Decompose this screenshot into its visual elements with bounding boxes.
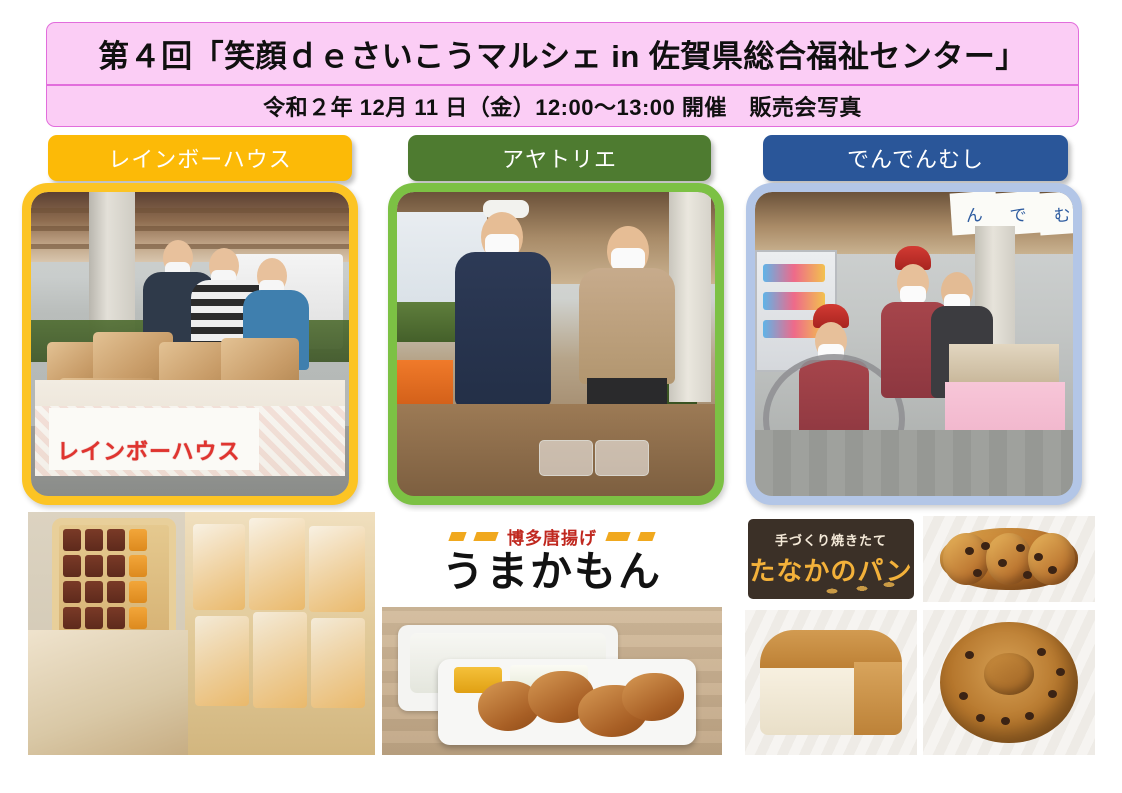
vendor-tab-label: レインボーハウス (108, 142, 292, 174)
vendor-tab-label: でんでんむし (847, 142, 984, 174)
photo-frame-dendenmushi: ん で む (746, 183, 1082, 505)
photo-ayatorie-stall (397, 192, 715, 496)
sign-tanaka-no-pan: 手づくり焼きたて たなかのパン (745, 516, 917, 602)
decorative-dash-icon (473, 532, 498, 541)
poster-canvas: 第４回「笑顔ｄｅさいこうマルシェ in 佐賀県総合福祉センター」 令和２年 12… (0, 0, 1122, 793)
photo-dendenmushi-stall: ん で む (755, 192, 1073, 496)
stall-banner-text: レインボーハウス (57, 434, 257, 466)
flag-char: む (1038, 192, 1073, 236)
page-title: 第４回「笑顔ｄｅさいこうマルシェ in 佐賀県総合福祉センター」 (47, 23, 1078, 84)
photo-frame-rainbow-house: レインボーハウス (22, 183, 358, 505)
photo-raisin-swirl-bread (923, 610, 1095, 755)
sign-subtitle: 博多唐揚げ (507, 524, 597, 549)
photo-chocolate-chip-braided-bread (923, 516, 1095, 602)
vendor-tab-ayatorie[interactable]: アヤトリエ (408, 135, 711, 181)
wheat-icon (760, 569, 910, 595)
photo-frame-ayatorie (388, 183, 724, 505)
vendor-tab-rainbow-house[interactable]: レインボーハウス (48, 135, 352, 181)
photo-rainbow-house-stall: レインボーハウス (31, 192, 349, 496)
photo-karaage-bento (382, 607, 722, 755)
sign-title: うまかもん (442, 551, 662, 593)
vendor-tab-label: アヤトリエ (502, 142, 617, 174)
page-subtitle: 令和２年 12月 11 日（金）12:00〜13:00 開催 販売会写真 (47, 84, 1078, 127)
title-banner: 第４回「笑顔ｄｅさいこうマルシェ in 佐賀県総合福祉センター」 令和２年 12… (46, 22, 1079, 127)
sign-subtitle: 手づくり焼きたて (775, 530, 887, 549)
decorative-dash-icon (448, 532, 466, 541)
decorative-dash-icon (637, 532, 655, 541)
photo-white-bread-loaf (745, 610, 917, 755)
vendor-tab-dendenmushi[interactable]: でんでんむし (763, 135, 1068, 181)
sign-umakamon: 博多唐揚げ うまかもん (382, 512, 722, 605)
photo-basket-of-baked-goods (28, 512, 375, 755)
decorative-dash-icon (605, 532, 630, 541)
